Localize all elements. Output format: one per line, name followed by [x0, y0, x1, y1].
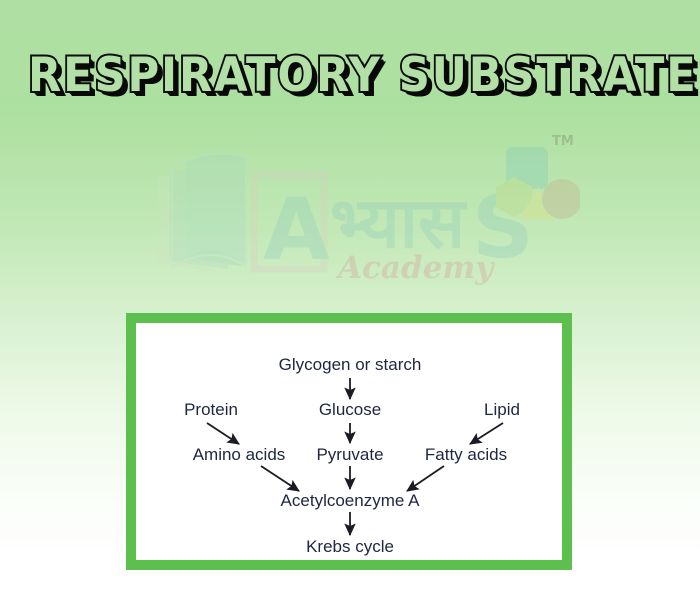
logo-hexagon-shape: [496, 177, 532, 217]
edge-fatty-to-acetyl: [407, 466, 444, 491]
node-glycogen-or-starch: Glycogen or starch: [279, 355, 422, 374]
trademark-text: TM: [552, 135, 574, 149]
node-protein: Protein: [184, 400, 238, 419]
edge-protein-to-amino: [207, 423, 239, 444]
page-root: RESPIRATORY SUBSTRATE A भ्यास S Academy: [0, 0, 700, 600]
logo-square-shape: [506, 147, 548, 189]
diagram-container: Glycogen or starch Protein Glucose Lipid…: [126, 313, 572, 570]
node-krebs-cycle: Krebs cycle: [306, 537, 394, 556]
page-title: RESPIRATORY SUBSTRATE: [28, 48, 672, 104]
node-glucose: Glucose: [319, 400, 381, 419]
edge-amino-to-acetyl: [261, 466, 299, 491]
diagram-canvas: Glycogen or starch Protein Glucose Lipid…: [136, 323, 562, 560]
flow-nodes: Glycogen or starch Protein Glucose Lipid…: [184, 355, 520, 556]
logo-letter-a-text: A: [263, 180, 330, 280]
logo-letter-s-text: S: [472, 178, 534, 278]
logo-letter-a: A: [254, 175, 330, 280]
logo-tagline-text: Academy: [335, 250, 495, 285]
node-pyruvate: Pyruvate: [316, 445, 383, 464]
node-amino-acids: Amino acids: [193, 445, 286, 464]
pathway-flowchart: Glycogen or starch Protein Glucose Lipid…: [136, 323, 562, 560]
node-lipid: Lipid: [484, 400, 520, 419]
logo-circle-shape: [542, 179, 580, 219]
book-icon: [158, 154, 246, 271]
node-acetylcoenzyme-a: Acetylcoenzyme A: [281, 491, 421, 510]
edge-lipid-to-fatty: [470, 423, 503, 444]
logo-triangle-shape: [520, 187, 556, 219]
logo-devanagari-text: भ्यास: [330, 182, 468, 264]
node-fatty-acids: Fatty acids: [425, 445, 507, 464]
watermark-logo: A भ्यास S Academy TM: [150, 135, 580, 285]
